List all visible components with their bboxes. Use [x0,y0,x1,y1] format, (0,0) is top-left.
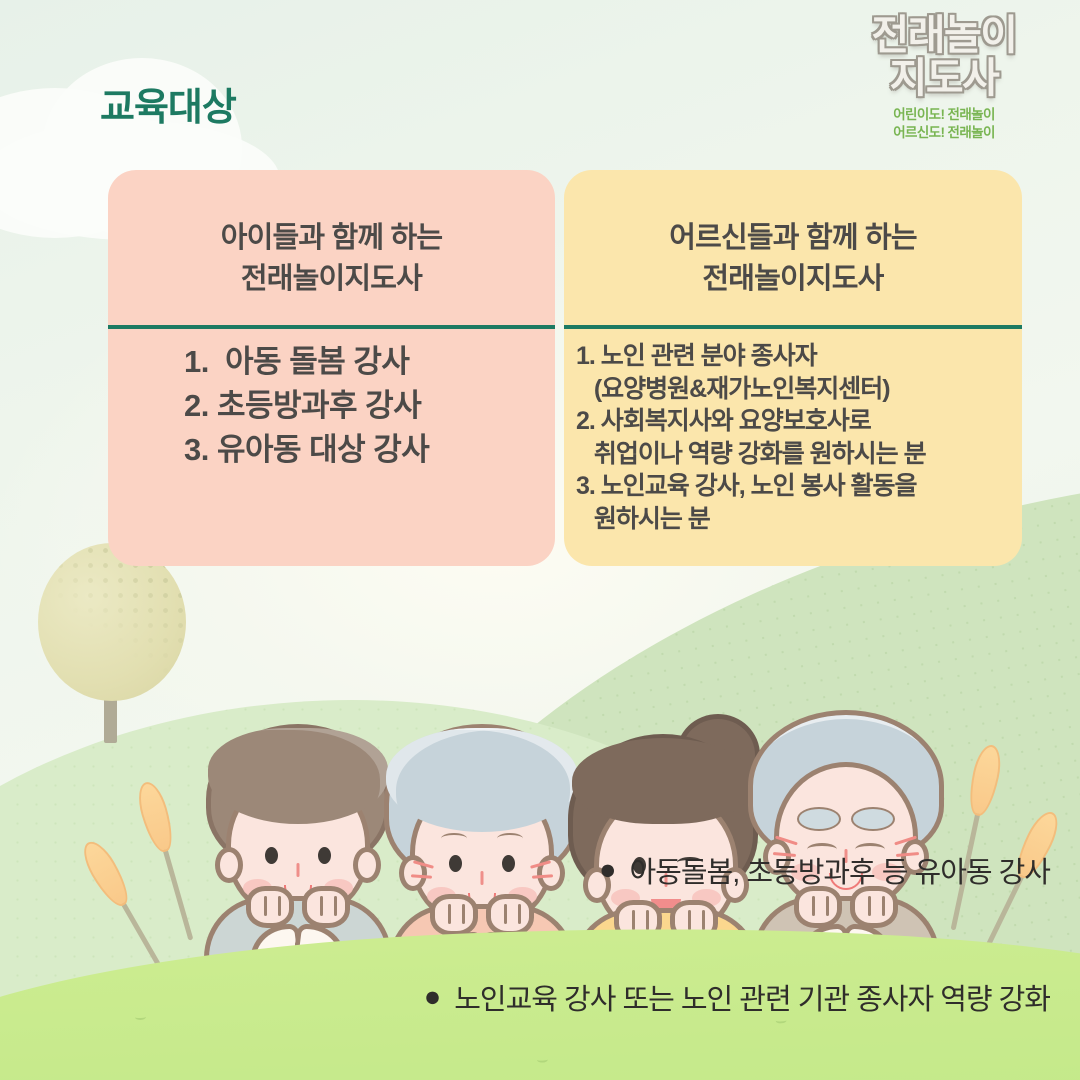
card-children-heading-line-2: 전래놀이지도사 [108,259,555,300]
bullet-item: ●아동돌봄, 초등방과후 등 유아동 강사 [0,810,1050,937]
brand-logo: 전래놀이 지도사 어린이도! 전래놀이 어르신도! 전래놀이 [856,14,1032,142]
list-item: 1. 아동 돌봄 강사 [184,340,537,384]
logo-line-1: 전래놀이 [856,14,1032,57]
card-seniors-heading-line-2: 전래놀이지도사 [564,259,1022,300]
card-seniors-list: 1. 노인 관련 분야 종사자 (요양병원&재가노인복지센터) 2. 사회복지사… [564,340,1022,535]
list-item: 3. 노인교육 강사, 노인 봉사 활동을 [576,470,1004,503]
logo-line-2: 지도사 [856,57,1032,100]
bullet-marker-icon: ● [599,849,616,891]
list-item: 2. 사회복지사와 요양보호사로 [576,405,1004,438]
page-title: 교육대상 [100,76,236,131]
card-children-heading: 아이들과 함께 하는 전래놀이지도사 [108,170,555,300]
bullet-text: 아동돌봄, 초등방과후 등 유아동 강사 [630,857,1051,889]
logo-subtitle-line-2: 어르신도! 전래놀이 [856,124,1032,142]
list-item: 1. 노인 관련 분야 종사자 [576,340,1004,373]
card-children: 아이들과 함께 하는 전래놀이지도사 1. 아동 돌봄 강사 2. 초등방과후 … [108,170,555,566]
card-seniors: 어르신들과 함께 하는 전래놀이지도사 1. 노인 관련 분야 종사자 (요양병… [564,170,1022,566]
list-item: 취업이나 역량 강화를 원하시는 분 [576,438,1004,471]
card-children-list: 1. 아동 돌봄 강사 2. 초등방과후 강사 3. 유아동 대상 강사 [108,340,555,472]
target-audience-cards: 아이들과 함께 하는 전래놀이지도사 1. 아동 돌봄 강사 2. 초등방과후 … [108,170,1022,566]
card-children-divider [108,325,555,329]
summary-bullets: ●아동돌봄, 초등방과후 등 유아동 강사 ●노인교육 강사 또는 노인 관련 … [0,810,1050,1064]
list-item: 3. 유아동 대상 강사 [184,428,537,472]
logo-subtitle: 어린이도! 전래놀이 어르신도! 전래놀이 [856,106,1032,142]
logo-subtitle-line-1: 어린이도! 전래놀이 [856,106,1032,124]
list-item: 2. 초등방과후 강사 [184,384,537,428]
bullet-item: ●노인교육 강사 또는 노인 관련 기관 종사자 역량 강화 [0,937,1050,1064]
card-seniors-heading-line-1: 어르신들과 함께 하는 [564,218,1022,259]
list-item: 원하시는 분 [576,503,1004,536]
card-children-heading-line-1: 아이들과 함께 하는 [108,218,555,259]
card-seniors-heading: 어르신들과 함께 하는 전래놀이지도사 [564,170,1022,300]
bullet-text: 노인교육 강사 또는 노인 관련 기관 종사자 역량 강화 [454,984,1050,1016]
card-seniors-divider [564,325,1022,329]
list-item: (요양병원&재가노인복지센터) [576,373,1004,406]
bullet-marker-icon: ● [424,976,441,1018]
